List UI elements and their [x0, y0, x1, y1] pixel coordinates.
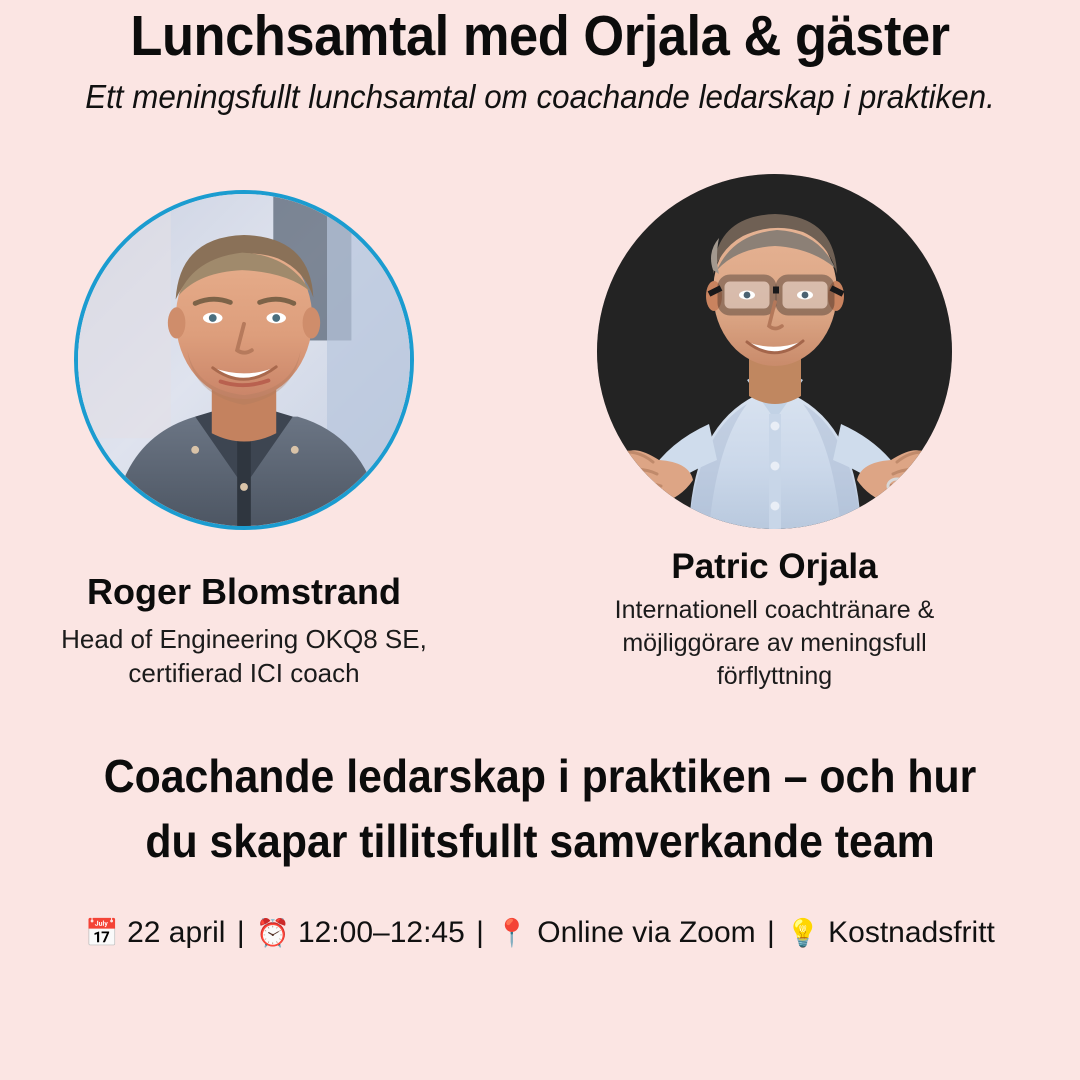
speaker-block-patric-orjala: Patric Orjala Internationell coachtränar… [572, 548, 977, 693]
speaker-role: Internationell coachtränare & möjliggöra… [572, 594, 977, 693]
light-bulb-icon: 💡 [786, 918, 820, 949]
detail-separator-3: | [764, 916, 778, 949]
event-date: 22 april [127, 916, 225, 949]
speaker-block-roger-blomstrand: Roger Blomstrand Head of Engineering OKQ… [34, 572, 454, 691]
detail-separator-1: | [234, 916, 248, 949]
speaker-photo-roger-blomstrand [74, 190, 414, 530]
event-time: 12:00–12:45 [298, 916, 465, 949]
speaker-photo-patric-orjala [597, 174, 952, 529]
speaker-name: Patric Orjala [572, 548, 977, 587]
alarm-clock-icon: ⏰ [256, 918, 290, 949]
event-details-line: 📅 22 april | ⏰ 12:00–12:45 | 📍 Online vi… [0, 912, 1080, 954]
speaker-role: Head of Engineering OKQ8 SE, certifierad… [34, 622, 454, 691]
page-title: Lunchsamtal med Orjala & gäster [43, 8, 1037, 65]
calendar-icon: 📅 [85, 918, 119, 949]
event-poster: Lunchsamtal med Orjala & gäster Ett meni… [0, 0, 1080, 1080]
event-headline: Coachande ledarskap i praktiken – och hu… [84, 744, 995, 875]
portrait-illustration-right [597, 174, 952, 529]
poster-header: Lunchsamtal med Orjala & gäster Ett meni… [0, 8, 1080, 115]
round-pushpin-icon: 📍 [495, 918, 529, 949]
detail-separator-2: | [473, 916, 487, 949]
event-location: Online via Zoom [537, 916, 755, 949]
event-price: Kostnadsfritt [828, 916, 995, 949]
page-subtitle: Ett meningsfullt lunchsamtal om coachand… [27, 79, 1053, 115]
portrait-illustration-left [78, 194, 410, 526]
speaker-name: Roger Blomstrand [34, 572, 454, 612]
